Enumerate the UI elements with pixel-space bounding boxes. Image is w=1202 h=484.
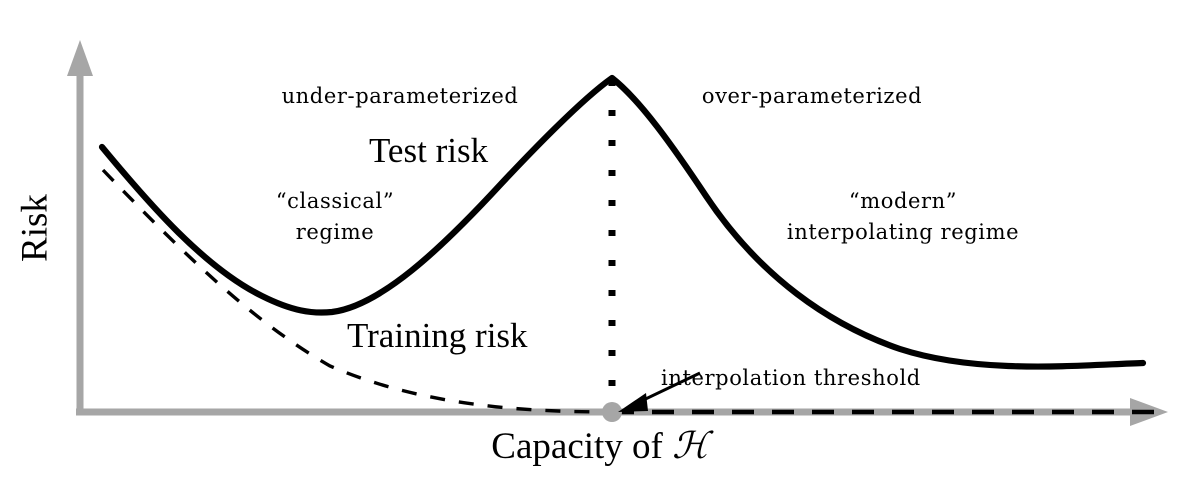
- region-header-over-parameterized: over-parameterized: [702, 85, 922, 109]
- region-header-under-parameterized: under-parameterized: [282, 85, 519, 109]
- test-risk-label: Test risk: [369, 131, 488, 170]
- x-axis-label: Capacity of ℋ: [491, 425, 708, 467]
- double-descent-figure: under-parameterized over-parameterized “…: [0, 0, 1202, 484]
- region-body-classical-line1: “classical”: [276, 190, 394, 214]
- training-risk-label: Training risk: [347, 316, 528, 355]
- x-axis-label-text: Capacity of: [491, 426, 672, 467]
- region-body-modern-line1: “modern”: [849, 190, 957, 214]
- y-axis: [67, 40, 93, 412]
- plot-canvas: [0, 0, 1202, 484]
- interpolation-threshold-marker: [602, 402, 622, 422]
- training-risk-curve: [103, 170, 1160, 412]
- hypothesis-class-symbol: ℋ: [672, 424, 709, 467]
- region-body-modern-line2: interpolating regime: [787, 221, 1019, 245]
- interpolation-threshold-label: interpolation threshold: [661, 367, 921, 391]
- y-axis-label: Risk: [14, 194, 55, 262]
- region-body-classical-line2: regime: [296, 221, 375, 245]
